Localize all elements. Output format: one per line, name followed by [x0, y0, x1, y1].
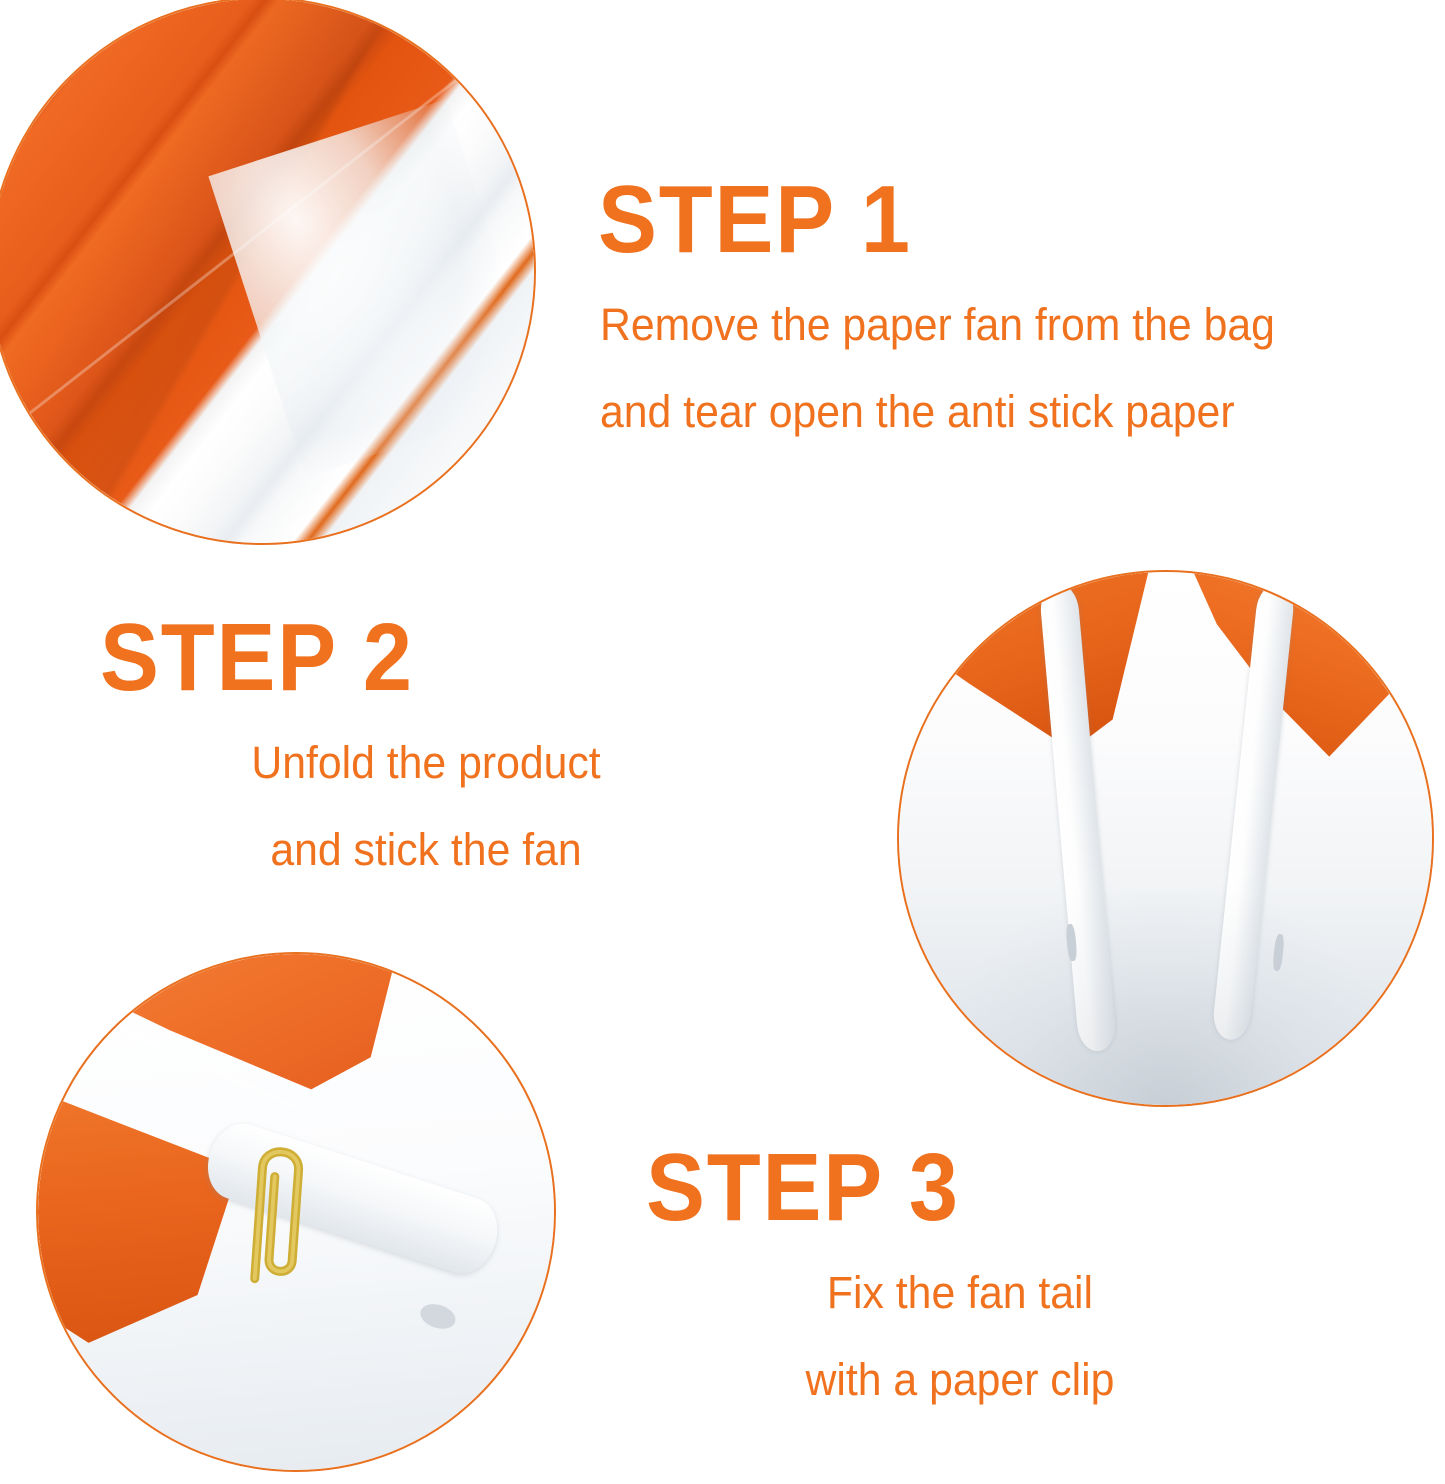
- paper-clip-icon: [233, 1122, 322, 1297]
- photo-image-step1: [0, 0, 534, 543]
- orange-fan-lower-wedge: [38, 1068, 327, 1367]
- step-2-text-block: STEP 2 Unfold the product and stick the …: [96, 610, 756, 872]
- photo-image-step2: [899, 572, 1432, 1105]
- liner-curl-highlight: [209, 99, 534, 476]
- step-2-line-2: and stick the fan: [113, 827, 740, 872]
- step-1-text-block: STEP 1 Remove the paper fan from the bag…: [598, 172, 1310, 434]
- unfolded-fan-with-tails-photo: [897, 570, 1434, 1107]
- photo-image-step3: [38, 954, 554, 1470]
- orange-fan-left-wedge: [899, 572, 1208, 807]
- step-3-line-2: with a paper clip: [656, 1357, 1264, 1402]
- fan-fold-edge-highlight: [78, 1009, 296, 1109]
- step-2-description: Unfold the product and stick the fan: [96, 740, 756, 872]
- step-3-description: Fix the fan tail with a paper clip: [640, 1270, 1280, 1402]
- instruction-infographic: STEP 1 Remove the paper fan from the bag…: [0, 0, 1445, 1484]
- step-3-text-block: STEP 3 Fix the fan tail with a paper cli…: [640, 1140, 1280, 1402]
- step-1-heading: STEP 1: [598, 172, 1253, 268]
- step-3-heading: STEP 3: [646, 1140, 1229, 1236]
- step-1-line-1: Remove the paper fan from the bag: [600, 302, 1275, 347]
- surface-shadow: [942, 892, 1390, 1105]
- white-fan-tail-strip: [198, 1116, 507, 1282]
- step-2-line-1: Unfold the product: [113, 740, 740, 785]
- step-1-line-2: and tear open the anti stick paper: [600, 389, 1275, 434]
- white-fan-tail-right: [1211, 582, 1296, 1042]
- tail-slot-hole: [417, 1300, 458, 1333]
- orange-fan-upper-wedge: [59, 954, 431, 1191]
- step-1-description: Remove the paper fan from the bag and te…: [600, 302, 1310, 434]
- orange-fan-right-wedge: [1144, 572, 1432, 796]
- fan-tail-with-paper-clip-photo: [36, 952, 556, 1472]
- tail-slot-left: [1066, 923, 1078, 961]
- folded-paper-fan-in-bag-photo: [0, 0, 536, 545]
- paper-crease-highlight: [23, 28, 522, 419]
- tail-slot-right: [1272, 934, 1284, 972]
- step-3-line-1: Fix the fan tail: [656, 1270, 1264, 1315]
- step-2-heading: STEP 2: [100, 610, 704, 706]
- white-fan-tail-left: [1039, 582, 1118, 1053]
